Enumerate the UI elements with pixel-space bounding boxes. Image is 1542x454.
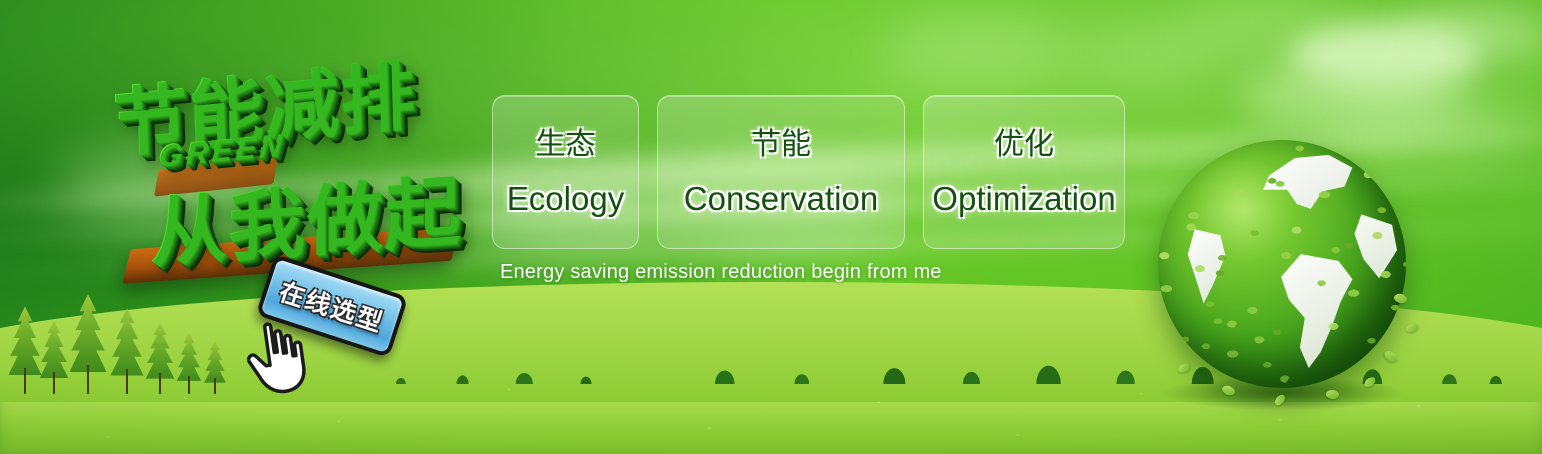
cloud-puff — [1075, 30, 1225, 76]
feature-card-en-label: Optimization — [932, 182, 1115, 215]
feature-card-cn-label: 优化 — [994, 130, 1054, 160]
feature-card-cn-label: 节能 — [751, 130, 811, 160]
feature-card-optimization[interactable]: 优化 Optimization — [923, 95, 1125, 249]
headline-3d: 节能减排 GREEN 从我做起 — [96, 42, 516, 272]
cloud-puff — [880, 18, 1080, 78]
feature-card-en-label: Ecology — [507, 182, 624, 215]
globe-sphere — [1158, 140, 1406, 388]
headline-line-3: 从我做起 — [150, 149, 461, 281]
feature-card-cn-label: 生态 — [536, 130, 596, 160]
tagline-text: Energy saving emission reduction begin f… — [500, 261, 942, 284]
eco-banner: 节能减排 GREEN 从我做起 在线选型 生态 Ecology 节能 Conse… — [0, 0, 1542, 454]
leafy-globe — [1148, 128, 1416, 406]
feature-card-list: 生态 Ecology 节能 Conservation 优化 Optimizati… — [492, 95, 1125, 249]
feature-card-ecology[interactable]: 生态 Ecology — [492, 95, 639, 249]
cloud-puff — [1400, 8, 1542, 60]
feature-card-conservation[interactable]: 节能 Conservation — [657, 95, 905, 249]
falling-leaf — [1177, 362, 1191, 373]
conifer-tree — [200, 342, 230, 394]
globe-leaf-overlay — [1198, 294, 1297, 388]
feature-card-en-label: Conservation — [684, 182, 878, 215]
